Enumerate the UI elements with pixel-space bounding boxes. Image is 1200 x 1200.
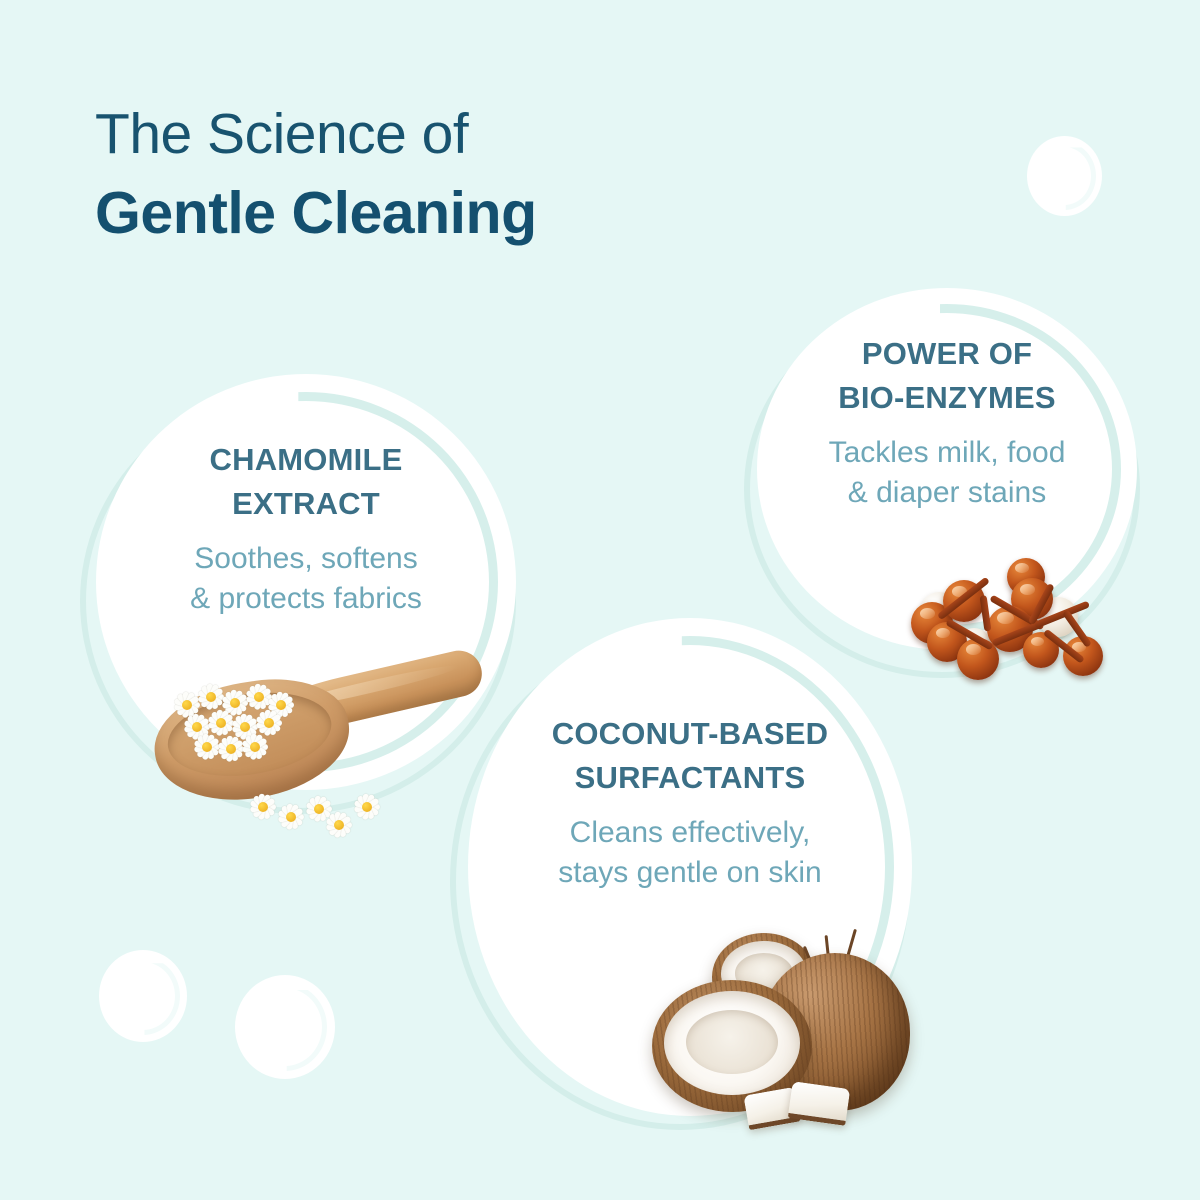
- flower-center: [240, 722, 250, 732]
- flower-center: [362, 802, 372, 812]
- flower-center: [182, 700, 192, 710]
- coconut-icon: [650, 925, 920, 1125]
- flower-center: [264, 718, 274, 728]
- coconut-flesh: [664, 991, 800, 1095]
- chamomile-flower: [240, 732, 270, 762]
- flower-center: [226, 744, 236, 754]
- body-line-2: & protects fabrics: [104, 579, 508, 619]
- bubble-highlight-icon: [243, 983, 327, 1071]
- bubble-highlight-icon: [1033, 142, 1096, 210]
- flower-center: [258, 802, 268, 812]
- flower-center: [334, 820, 344, 830]
- chamomile-flower: [248, 792, 278, 822]
- heading-line-2: EXTRACT: [104, 482, 508, 526]
- flower-center: [314, 804, 324, 814]
- card-coconut-text: COCONUT-BASED SURFACTANTS Cleans effecti…: [474, 712, 906, 893]
- body-line-1: Tackles milk, food: [765, 433, 1129, 473]
- body-line-1: Soothes, softens: [104, 539, 508, 579]
- heading-line-1: CHAMOMILE: [104, 438, 508, 482]
- body-line-1: Cleans effectively,: [474, 813, 906, 853]
- card-coconut-heading: COCONUT-BASED SURFACTANTS: [474, 712, 906, 800]
- card-coconut-body: Cleans effectively, stays gentle on skin: [474, 813, 906, 893]
- flower-center: [206, 692, 216, 702]
- card-chamomile-body: Soothes, softens & protects fabrics: [104, 539, 508, 619]
- card-bio-enzymes-text: POWER OF BIO-ENZYMES Tackles milk, food …: [765, 332, 1129, 513]
- body-line-2: & diaper stains: [765, 473, 1129, 513]
- flower-center: [286, 812, 296, 822]
- heading-line-2: BIO-ENZYMES: [765, 376, 1129, 420]
- bubble-bottom-left-2: [235, 975, 335, 1079]
- infographic-canvas: The Science of Gentle Cleaning POWER OF …: [0, 0, 1200, 1200]
- chamomile-flower: [276, 802, 306, 832]
- chamomile-flower: [352, 792, 382, 822]
- flower-center: [202, 742, 212, 752]
- flower-center: [254, 692, 264, 702]
- chamomile-flower: [324, 810, 354, 840]
- heading-line-1: POWER OF: [765, 332, 1129, 376]
- body-line-2: stays gentle on skin: [474, 853, 906, 893]
- heading-line-2: SURFACTANTS: [474, 756, 906, 800]
- bubble-top-right: [1027, 136, 1102, 216]
- coconut-chunk: [788, 1081, 851, 1126]
- card-bio-enzymes-heading: POWER OF BIO-ENZYMES: [765, 332, 1129, 420]
- title-line-2: Gentle Cleaning: [95, 180, 795, 248]
- chamomile-spoon-icon: [148, 652, 508, 852]
- card-chamomile-text: CHAMOMILE EXTRACT Soothes, softens & pro…: [104, 438, 508, 619]
- card-chamomile-heading: CHAMOMILE EXTRACT: [104, 438, 508, 526]
- flower-center: [216, 718, 226, 728]
- flower-center: [250, 742, 260, 752]
- card-bio-enzymes-body: Tackles milk, food & diaper stains: [765, 433, 1129, 513]
- molecule-model-icon: [895, 548, 1105, 678]
- flower-center: [192, 722, 202, 732]
- title-line-1: The Science of: [95, 103, 795, 167]
- bubble-highlight-icon: [106, 957, 180, 1035]
- flower-center: [230, 698, 240, 708]
- page-title: The Science of Gentle Cleaning: [95, 103, 795, 248]
- bubble-bottom-left-1: [99, 950, 187, 1042]
- heading-line-1: COCONUT-BASED: [474, 712, 906, 756]
